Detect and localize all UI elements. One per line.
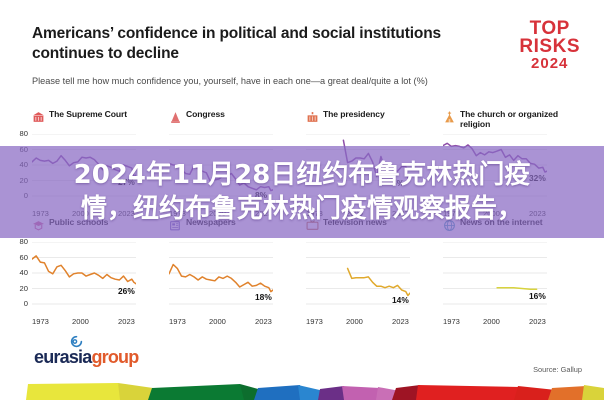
logo-wordmark: eurasiagroup <box>34 347 138 368</box>
x-axis-tick: 1973 <box>443 317 460 326</box>
x-axis: 1973 2000 2023 <box>306 317 443 329</box>
x-axis-tick: 2023 <box>529 317 546 326</box>
overlay-line-2: 情，纽约布鲁克林热门疫情观察报告， <box>22 192 582 226</box>
overlay-line-1: 2024年11月28日纽约布鲁克林热门疫 <box>22 158 582 192</box>
x-axis: 1973 2000 2023 <box>32 317 169 329</box>
source-note: Source: Gallup <box>533 365 582 374</box>
supreme-court-icon <box>32 111 45 124</box>
congress-icon <box>169 111 182 124</box>
x-axis-tick: 2023 <box>118 317 135 326</box>
panel-header: The presidency <box>306 110 443 132</box>
x-axis-tick: 2000 <box>346 317 363 326</box>
y-axis-tick: 80 <box>10 129 28 138</box>
panel-plot: 18% <box>169 242 306 316</box>
panel-title: The church or organized religion <box>460 110 580 129</box>
x-axis-tick: 2000 <box>483 317 500 326</box>
eurasia-swirl-icon <box>70 335 83 348</box>
panel-title: The presidency <box>323 110 385 120</box>
panel-plot: 16% <box>443 242 580 316</box>
logo-text-eurasia: eurasia <box>34 347 91 367</box>
end-value-label: 18% <box>255 292 272 302</box>
panel-plot: 806040200 26% <box>32 242 169 316</box>
infographic-page: Americans’ confidence in political and s… <box>0 0 604 400</box>
x-axis-tick: 2023 <box>392 317 409 326</box>
brand-color-bar <box>0 382 604 400</box>
panel-header: Congress <box>169 110 306 132</box>
panel-title: The Supreme Court <box>49 110 127 120</box>
panel-header: The church or organized religion <box>443 110 580 132</box>
y-axis-tick: 80 <box>10 237 28 246</box>
end-value-label: 16% <box>529 291 546 301</box>
eurasia-group-logo: eurasiagroup <box>34 347 138 368</box>
panel-title: Congress <box>186 110 225 120</box>
end-value-label: 14% <box>392 295 409 305</box>
x-axis-tick: 2023 <box>255 317 272 326</box>
y-axis-tick: 20 <box>10 284 28 293</box>
x-axis-tick: 1973 <box>32 317 49 326</box>
y-axis-tick: 40 <box>10 268 28 277</box>
x-axis-tick: 2000 <box>209 317 226 326</box>
panel-plot: 14% <box>306 242 443 316</box>
church-icon <box>443 111 456 124</box>
x-axis-tick: 1973 <box>306 317 323 326</box>
presidency-icon <box>306 111 319 124</box>
line-chart-svg <box>32 242 136 310</box>
logo-text-group: group <box>91 347 138 367</box>
y-axis-tick: 60 <box>10 253 28 262</box>
overlay-banner: 2024年11月28日纽约布鲁克林热门疫 情，纽约布鲁克林热门疫情观察报告， <box>0 146 604 238</box>
x-axis: 1973 2000 2023 <box>169 317 306 329</box>
x-axis-tick: 2000 <box>72 317 89 326</box>
y-axis-tick: 0 <box>10 299 28 308</box>
panel-header: The Supreme Court <box>32 110 169 132</box>
x-axis: 1973 2000 2023 <box>443 317 580 329</box>
x-axis-tick: 1973 <box>169 317 186 326</box>
end-value-label: 26% <box>118 286 135 296</box>
